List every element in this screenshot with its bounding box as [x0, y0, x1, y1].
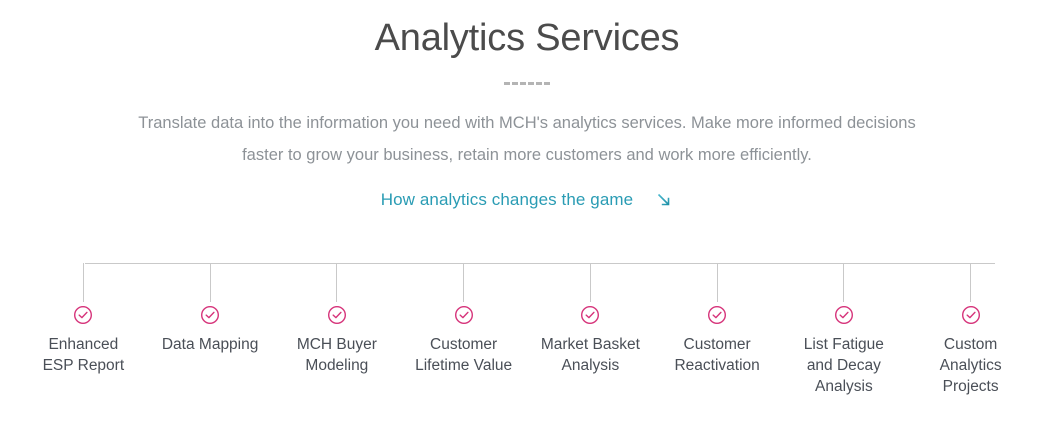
service-label: Market Basket Analysis: [541, 334, 640, 376]
service-item-data-mapping[interactable]: Data Mapping: [147, 263, 274, 397]
service-label: MCH Buyer Modeling: [297, 334, 377, 376]
service-item-mch-buyer-modeling[interactable]: MCH Buyer Modeling: [274, 263, 401, 397]
services-list: Enhanced ESP Report Data Mapping: [0, 263, 1054, 397]
service-label: Custom Analytics Projects: [940, 334, 1002, 397]
cta-link-row: How analytics changes the game: [0, 189, 1054, 211]
service-item-enhanced-esp-report[interactable]: Enhanced ESP Report: [20, 263, 147, 397]
check-circle-icon: [961, 305, 981, 325]
page-header: Analytics Services: [0, 0, 1054, 85]
title-divider: [504, 82, 550, 85]
check-circle-icon: [327, 305, 347, 325]
check-circle-icon: [834, 305, 854, 325]
connector-stem: [336, 263, 337, 302]
check-circle-icon: [73, 305, 93, 325]
service-item-customer-lifetime-value[interactable]: Customer Lifetime Value: [400, 263, 527, 397]
service-item-customer-reactivation[interactable]: Customer Reactivation: [654, 263, 781, 397]
arrow-down-right-icon[interactable]: [655, 191, 673, 209]
analytics-services-page: Analytics Services Translate data into t…: [0, 0, 1054, 440]
check-circle-icon: [707, 305, 727, 325]
service-label: Customer Reactivation: [674, 334, 759, 376]
connector-stem: [590, 263, 591, 302]
service-item-list-fatigue-and-decay-analysis[interactable]: List Fatigue and Decay Analysis: [781, 263, 908, 397]
check-circle-icon: [200, 305, 220, 325]
service-item-custom-analytics-projects[interactable]: Custom Analytics Projects: [907, 263, 1034, 397]
connector-stem: [463, 263, 464, 302]
service-label: List Fatigue and Decay Analysis: [804, 334, 884, 397]
service-label: Customer Lifetime Value: [415, 334, 512, 376]
service-label: Enhanced ESP Report: [43, 334, 125, 376]
service-label: Data Mapping: [162, 334, 259, 355]
intro-paragraph: Translate data into the information you …: [127, 107, 927, 171]
check-circle-icon: [580, 305, 600, 325]
page-title: Analytics Services: [0, 14, 1054, 62]
check-circle-icon: [454, 305, 474, 325]
connector-stem: [210, 263, 211, 302]
connector-stem: [717, 263, 718, 302]
service-item-market-basket-analysis[interactable]: Market Basket Analysis: [527, 263, 654, 397]
how-analytics-changes-the-game-link[interactable]: How analytics changes the game: [381, 189, 633, 211]
connector-stem: [83, 263, 84, 302]
services-diagram: Enhanced ESP Report Data Mapping: [0, 252, 1054, 440]
connector-stem: [843, 263, 844, 302]
connector-stem: [970, 263, 971, 302]
